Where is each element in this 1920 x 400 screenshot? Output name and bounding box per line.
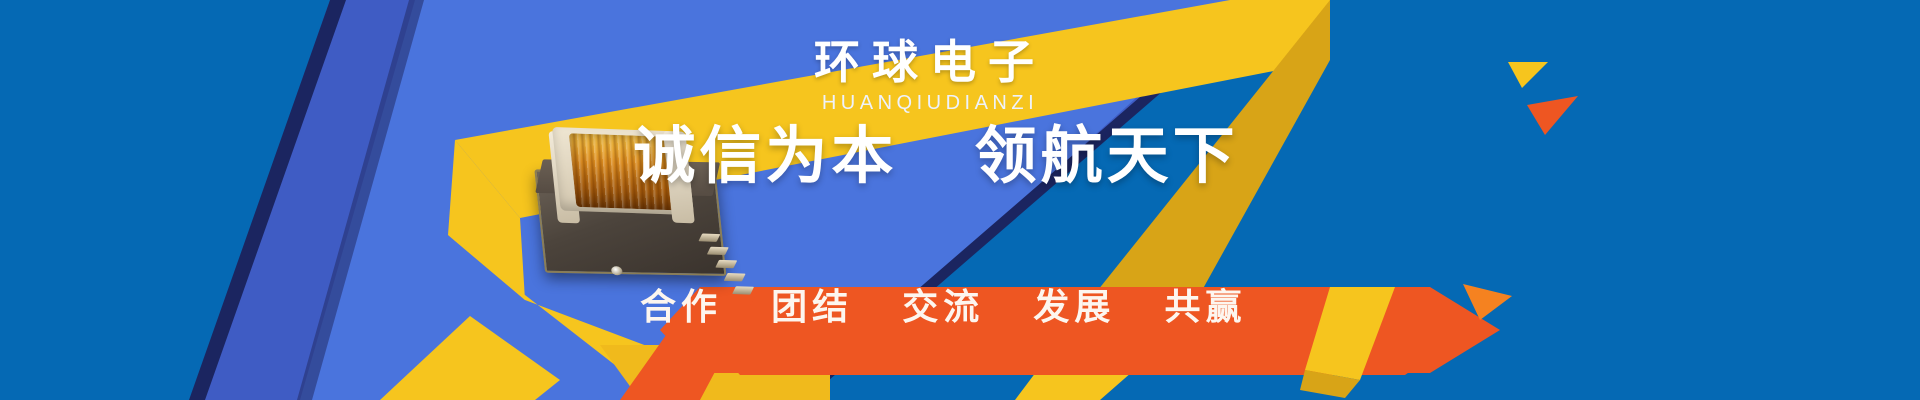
sub-slogan-item-2: 交流 (902, 287, 984, 328)
brand-name-pinyin: HUANQIUDIANZI (600, 92, 1260, 115)
sub-slogan-item-4: 共赢 (1164, 287, 1246, 328)
main-slogan: 诚信为本 领航天下 (596, 118, 1276, 194)
promo-banner: 环球电子 HUANQIUDIANZI 诚信为本 领航天下 合作 团结 交流 发展… (0, 0, 1920, 400)
slogan-part-2: 领航天下 (975, 119, 1239, 192)
product-screw (611, 266, 623, 275)
brand-block: 环球电子 HUANQIUDIANZI (600, 38, 1260, 115)
slogan-part-1: 诚信为本 (633, 119, 897, 192)
sub-slogan-item-1: 团结 (771, 287, 853, 328)
brand-name-cn: 环球电子 (600, 38, 1260, 86)
sub-slogan-item-3: 发展 (1033, 287, 1115, 328)
sub-slogan: 合作 团结 交流 发展 共赢 (640, 290, 1240, 326)
sub-slogan-item-0: 合作 (640, 287, 722, 328)
